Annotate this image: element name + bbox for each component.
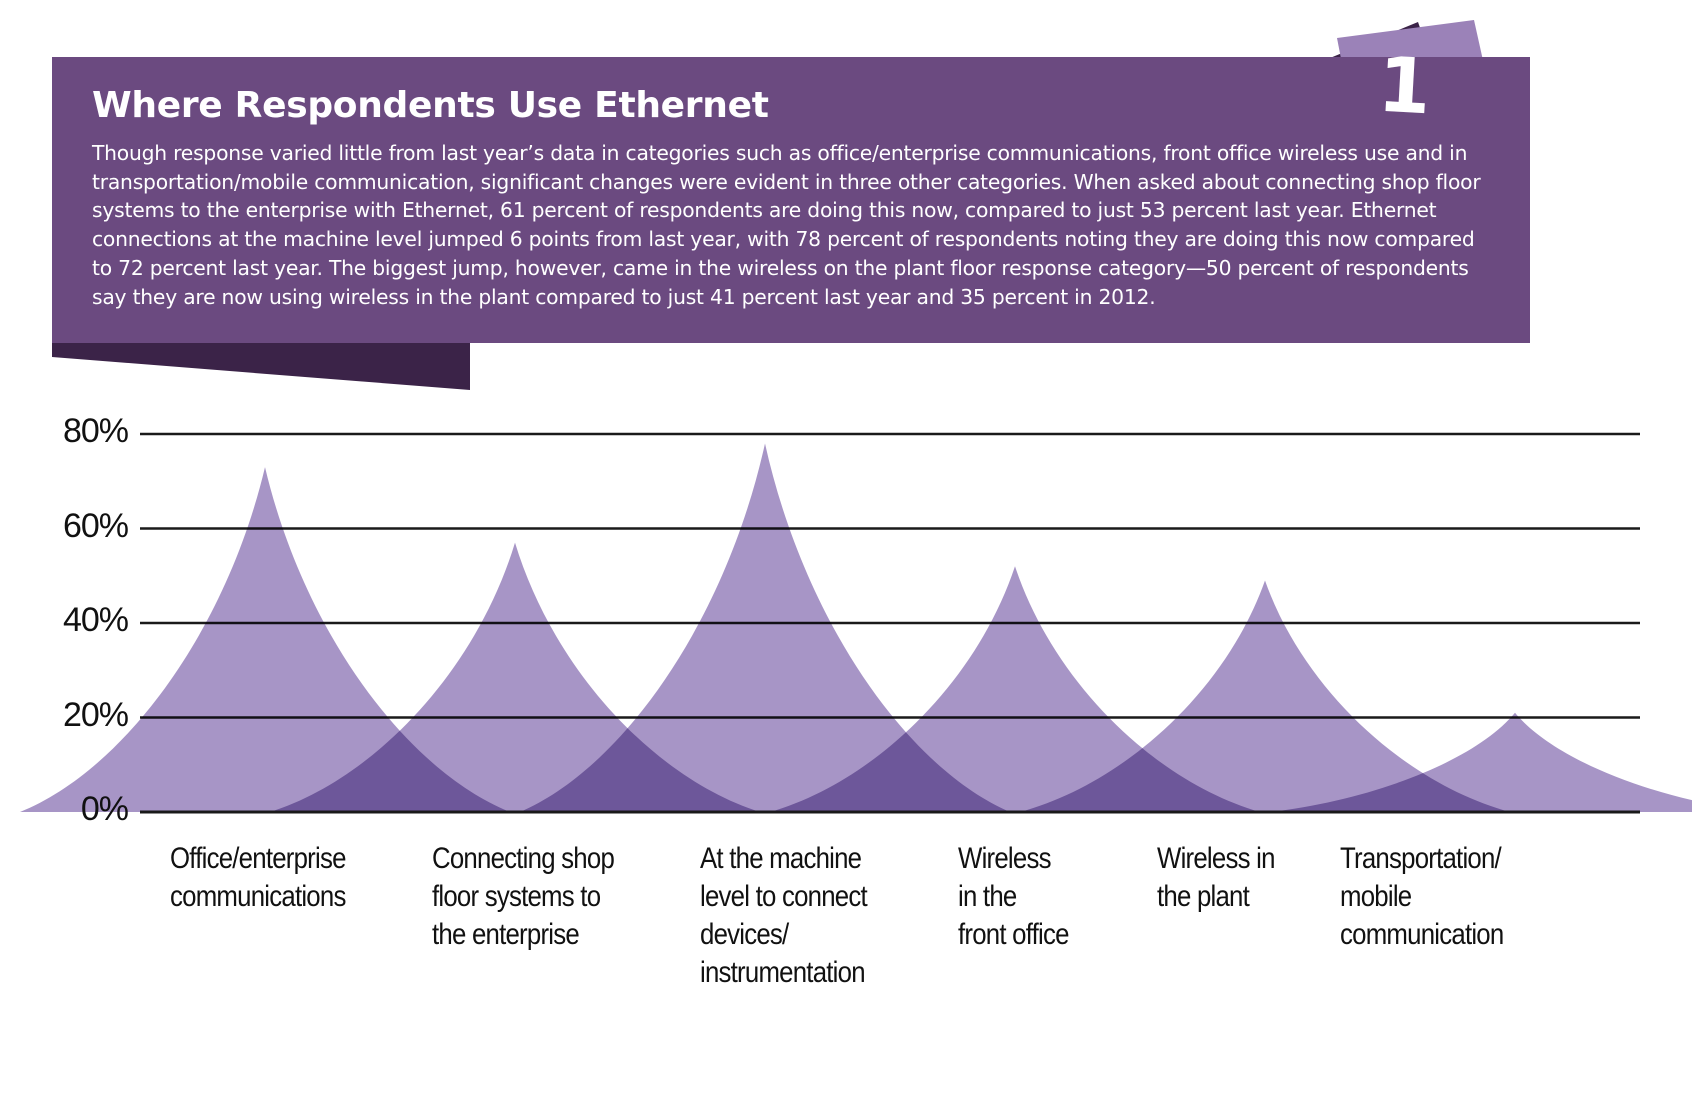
callout-panel: Where Respondents Use Ethernet Though re…	[0, 0, 1692, 400]
page-title: Where Respondents Use Ethernet	[92, 87, 1490, 125]
y-axis-tick-label: 0%	[18, 790, 128, 829]
x-axis-category-label: Office/enterprise communications	[170, 840, 428, 916]
badge-number-label: 1	[1376, 47, 1433, 126]
y-axis-tick-label: 80%	[18, 412, 128, 451]
x-axis-category-label: Connecting shop floor systems to the ent…	[432, 840, 690, 954]
callout-text-block: Where Respondents Use Ethernet Though re…	[52, 57, 1530, 340]
y-axis-tick-label: 60%	[18, 507, 128, 546]
peak-series	[20, 443, 1692, 812]
x-axis-category-label: At the machine level to connect devices/…	[700, 840, 958, 992]
y-axis-tick-label: 20%	[18, 696, 128, 735]
gridlines	[140, 434, 1640, 718]
chart-area: 80%60%40%20%0% Office/enterprise communi…	[0, 400, 1692, 1118]
x-axis-category-label: Transportation/ mobile communication	[1340, 840, 1598, 954]
callout-tail	[52, 343, 470, 390]
callout-paragraph: Though response varied little from last …	[92, 139, 1497, 312]
y-axis-tick-label: 40%	[18, 601, 128, 640]
chart-svg	[0, 400, 1692, 1118]
